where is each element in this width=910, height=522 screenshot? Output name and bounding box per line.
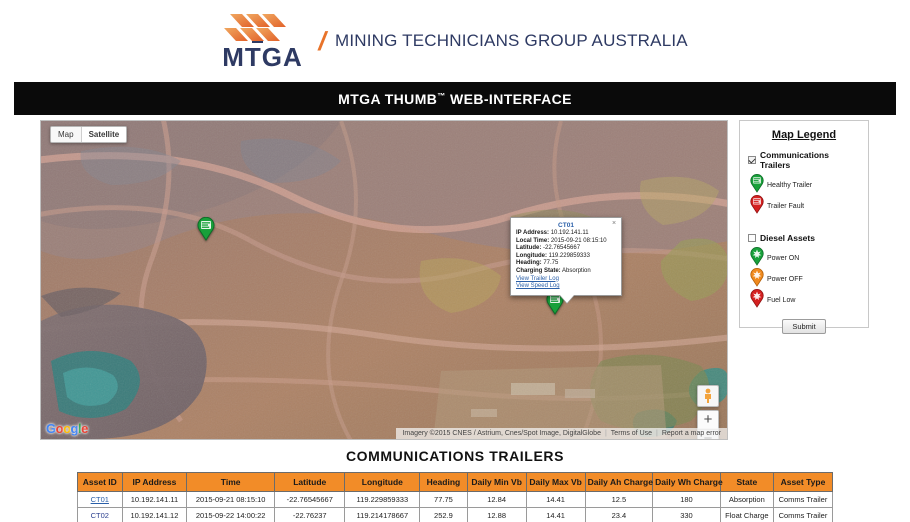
cell-state: Float Charge bbox=[720, 508, 773, 522]
satellite-imagery bbox=[41, 121, 728, 440]
google-o1: o bbox=[56, 421, 63, 436]
th-daily-wh-charge: Daily Wh Charge bbox=[653, 473, 721, 492]
asset-id-link-ct02[interactable]: CT02 bbox=[91, 511, 109, 520]
cell-heading: 252.9 bbox=[420, 508, 467, 522]
brand-slash: / bbox=[315, 26, 329, 57]
legend-label-fuel-low: Fuel Low bbox=[767, 297, 795, 304]
cell-ah-charge: 23.4 bbox=[585, 508, 653, 522]
legend-group-comms-trailers[interactable]: Communications Trailers bbox=[748, 150, 860, 170]
cell-min-vb: 12.88 bbox=[467, 508, 526, 522]
app-title-banner: MTGA THUMB™ WEB-INTERFACE bbox=[14, 82, 896, 115]
google-o2: o bbox=[63, 421, 70, 436]
legend-label-healthy-trailer: Healthy Trailer bbox=[767, 182, 812, 189]
assets-table: Asset ID IP Address Time Latitude Longit… bbox=[77, 472, 833, 522]
infowindow-label-lat: Latitude: bbox=[516, 245, 541, 251]
legend-group-diesel-assets[interactable]: Diesel Assets bbox=[748, 233, 860, 243]
map-infowindow[interactable]: × CT01 IP Address: 10.192.141.11 Local T… bbox=[510, 217, 622, 296]
app-title-main: MTGA THUMB bbox=[338, 91, 437, 107]
infowindow-value-heading: 77.75 bbox=[543, 260, 558, 266]
attribution-text: Imagery ©2015 CNES / Astrium, Cnes/Spot … bbox=[399, 430, 604, 437]
infowindow-field-charging: Charging State: Absorption bbox=[516, 268, 616, 276]
app-title: MTGA THUMB™ WEB-INTERFACE bbox=[338, 91, 572, 107]
table-row[interactable]: CT02 10.192.141.12 2015-09-22 14:00:22 -… bbox=[78, 508, 833, 522]
cell-lon: 119.229859333 bbox=[345, 492, 420, 508]
mtga-logo: MTGA bbox=[222, 12, 303, 70]
google-logo: Google bbox=[46, 421, 88, 436]
cell-max-vb: 14.41 bbox=[526, 492, 585, 508]
terms-of-use-link[interactable]: Terms of Use bbox=[608, 430, 655, 437]
th-latitude: Latitude bbox=[275, 473, 345, 492]
th-longitude: Longitude bbox=[345, 473, 420, 492]
infowindow-label-lon: Longitude: bbox=[516, 253, 547, 259]
view-speed-log-link[interactable]: View Speed Log bbox=[516, 283, 616, 291]
infowindow-value-charging: Absorption bbox=[562, 268, 591, 274]
cell-asset-id[interactable]: CT02 bbox=[78, 508, 123, 522]
cell-ip: 10.192.141.11 bbox=[122, 492, 187, 508]
google-g2: g bbox=[71, 421, 78, 436]
page-root: MTGA / MINING TECHNICIANS GROUP AUSTRALI… bbox=[0, 0, 910, 522]
th-asset-type: Asset Type bbox=[773, 473, 832, 492]
cell-heading: 77.75 bbox=[420, 492, 467, 508]
cell-max-vb: 14.41 bbox=[526, 508, 585, 522]
section-title: COMMUNICATIONS TRAILERS bbox=[0, 448, 910, 464]
google-e: e bbox=[81, 421, 88, 436]
th-state: State bbox=[720, 473, 773, 492]
th-ip-address: IP Address bbox=[122, 473, 187, 492]
legend-item-power-off: Power OFF bbox=[750, 269, 860, 290]
legend-label-trailer-fault: Trailer Fault bbox=[767, 203, 804, 210]
legend-checkbox-diesel-assets[interactable] bbox=[748, 234, 756, 242]
report-map-error-link[interactable]: Report a map error bbox=[659, 430, 724, 437]
infowindow-title: CT01 bbox=[516, 222, 616, 229]
cell-state: Absorption bbox=[720, 492, 773, 508]
cell-lat: -22.76545667 bbox=[275, 492, 345, 508]
legend-item-fuel-low: Fuel Low bbox=[750, 290, 860, 311]
infowindow-label-ip: IP Address: bbox=[516, 230, 549, 236]
infowindow-value-lon: 119.229859333 bbox=[549, 253, 590, 259]
view-trailer-log-link[interactable]: View Trailer Log bbox=[516, 276, 616, 284]
infowindow-value-lat: -22.76545667 bbox=[543, 245, 580, 251]
cell-wh-charge: 180 bbox=[653, 492, 721, 508]
infowindow-close-icon[interactable]: × bbox=[610, 220, 618, 228]
table-header-row: Asset ID IP Address Time Latitude Longit… bbox=[78, 473, 833, 492]
th-daily-max-vb: Daily Max Vb bbox=[526, 473, 585, 492]
infowindow-label-time: Local Time: bbox=[516, 238, 549, 244]
map-attribution: Imagery ©2015 CNES / Astrium, Cnes/Spot … bbox=[396, 428, 727, 439]
legend-group-label-diesel: Diesel Assets bbox=[760, 233, 815, 243]
infowindow-field-ip: IP Address: 10.192.141.11 bbox=[516, 230, 616, 238]
th-heading: Heading bbox=[420, 473, 467, 492]
legend-submit-button[interactable]: Submit bbox=[782, 319, 825, 334]
diesel-marker-red-icon bbox=[750, 289, 764, 313]
infowindow-label-charging: Charging State: bbox=[516, 268, 561, 274]
legend-item-healthy-trailer: Healthy Trailer bbox=[750, 175, 860, 196]
cell-min-vb: 12.84 bbox=[467, 492, 526, 508]
cell-asset-id[interactable]: CT01 bbox=[78, 492, 123, 508]
cell-time: 2015-09-22 14:00:22 bbox=[187, 508, 275, 522]
th-daily-min-vb: Daily Min Vb bbox=[467, 473, 526, 492]
legend-spacer bbox=[748, 217, 860, 233]
infowindow-field-lat: Latitude: -22.76545667 bbox=[516, 245, 616, 253]
wordmark-text: MTGA bbox=[222, 42, 303, 72]
legend-label-power-on: Power ON bbox=[767, 255, 799, 262]
cell-asset-type: Comms Trailer bbox=[773, 508, 832, 522]
legend-item-trailer-fault: Trailer Fault bbox=[750, 196, 860, 217]
cell-wh-charge: 330 bbox=[653, 508, 721, 522]
chevrons-icon bbox=[224, 12, 300, 42]
app-title-tail: WEB-INTERFACE bbox=[446, 91, 572, 107]
legend-group-label-comms: Communications Trailers bbox=[760, 150, 860, 170]
trademark-symbol: ™ bbox=[437, 91, 445, 100]
th-asset-id: Asset ID bbox=[78, 473, 123, 492]
infowindow-field-lon: Longitude: 119.229859333 bbox=[516, 253, 616, 261]
th-time: Time bbox=[187, 473, 275, 492]
map-canvas[interactable]: Map Satellite × CT01 bbox=[40, 120, 728, 440]
infowindow-field-heading: Heading: 77.75 bbox=[516, 260, 616, 268]
cell-ah-charge: 12.5 bbox=[585, 492, 653, 508]
brand-header: MTGA / MINING TECHNICIANS GROUP AUSTRALI… bbox=[0, 0, 910, 82]
assets-table-wrapper: Asset ID IP Address Time Latitude Longit… bbox=[77, 472, 833, 522]
wordmark: MTGA bbox=[222, 44, 303, 70]
infowindow-value-time: 2015-09-21 08:15:10 bbox=[551, 238, 607, 244]
infowindow-label-heading: Heading: bbox=[516, 260, 542, 266]
legend-checkbox-comms-trailers[interactable] bbox=[748, 156, 756, 164]
legend-label-power-off: Power OFF bbox=[767, 276, 803, 283]
trailer-marker-red-icon bbox=[750, 195, 764, 219]
map-type-satellite[interactable]: Satellite bbox=[82, 127, 127, 142]
map-type-map[interactable]: Map bbox=[51, 127, 82, 142]
asset-id-link-ct01[interactable]: CT01 bbox=[91, 495, 109, 504]
google-g1: G bbox=[46, 421, 56, 436]
legend-item-power-on: Power ON bbox=[750, 248, 860, 269]
cell-lon: 119.214178667 bbox=[345, 508, 420, 522]
map-type-control[interactable]: Map Satellite bbox=[50, 126, 127, 143]
pegman-icon[interactable] bbox=[697, 385, 719, 407]
infowindow-value-ip: 10.192.141.11 bbox=[551, 230, 589, 236]
map-marker-ct02[interactable] bbox=[197, 217, 215, 241]
cell-ip: 10.192.141.12 bbox=[122, 508, 187, 522]
cell-asset-type: Comms Trailer bbox=[773, 492, 832, 508]
legend-title: Map Legend bbox=[748, 129, 860, 141]
th-daily-ah-charge: Daily Ah Charge bbox=[585, 473, 653, 492]
brand-tagline: MINING TECHNICIANS GROUP AUSTRALIA bbox=[335, 31, 688, 51]
map-legend-panel: Map Legend Communications Trailers Healt… bbox=[739, 120, 869, 328]
cell-time: 2015-09-21 08:15:10 bbox=[187, 492, 275, 508]
cell-lat: -22.76237 bbox=[275, 508, 345, 522]
infowindow-field-time: Local Time: 2015-09-21 08:15:10 bbox=[516, 238, 616, 246]
table-row[interactable]: CT01 10.192.141.11 2015-09-21 08:15:10 -… bbox=[78, 492, 833, 508]
legend-submit-wrapper: Submit bbox=[748, 319, 860, 334]
